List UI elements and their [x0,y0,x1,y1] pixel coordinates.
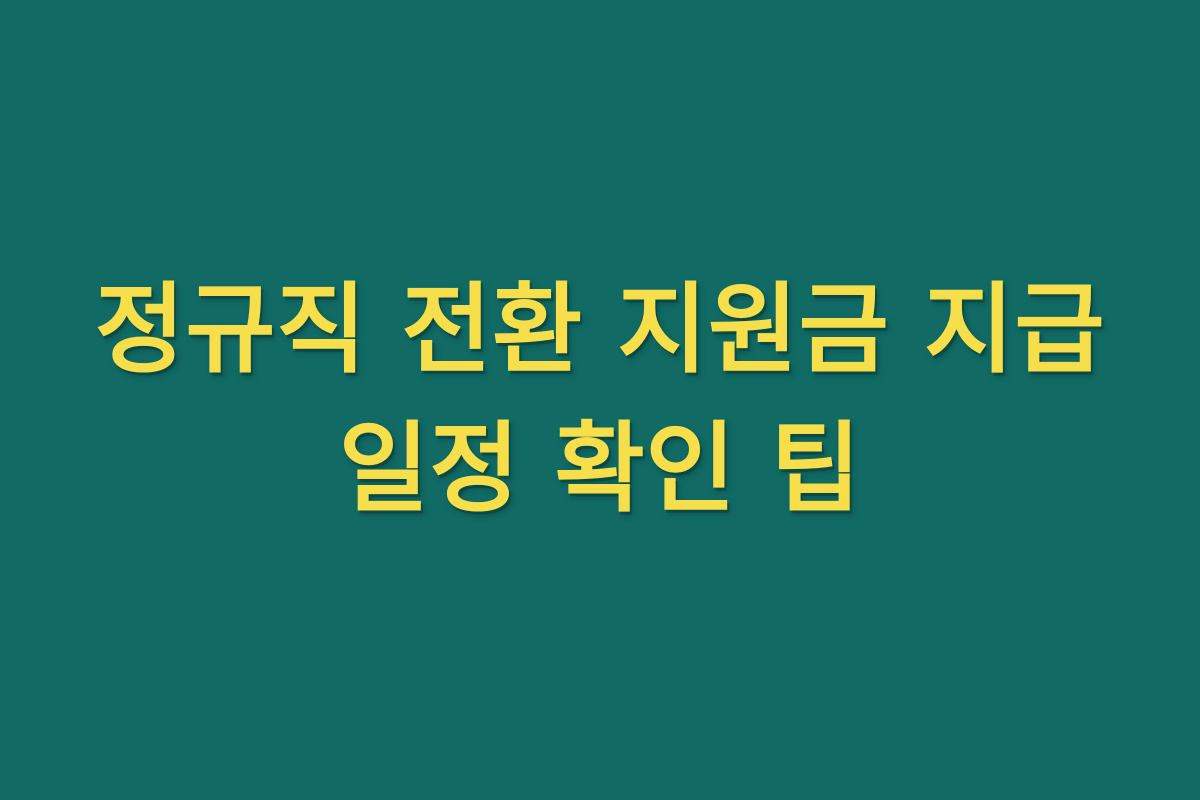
title-banner: 정규직 전환 지원금 지급 일정 확인 팁 [0,0,1200,800]
page-title: 정규직 전환 지원금 지급 일정 확인 팁 [0,261,1200,539]
title-line-2: 일정 확인 팁 [40,400,1160,539]
title-line-1: 정규직 전환 지원금 지급 [40,261,1160,400]
